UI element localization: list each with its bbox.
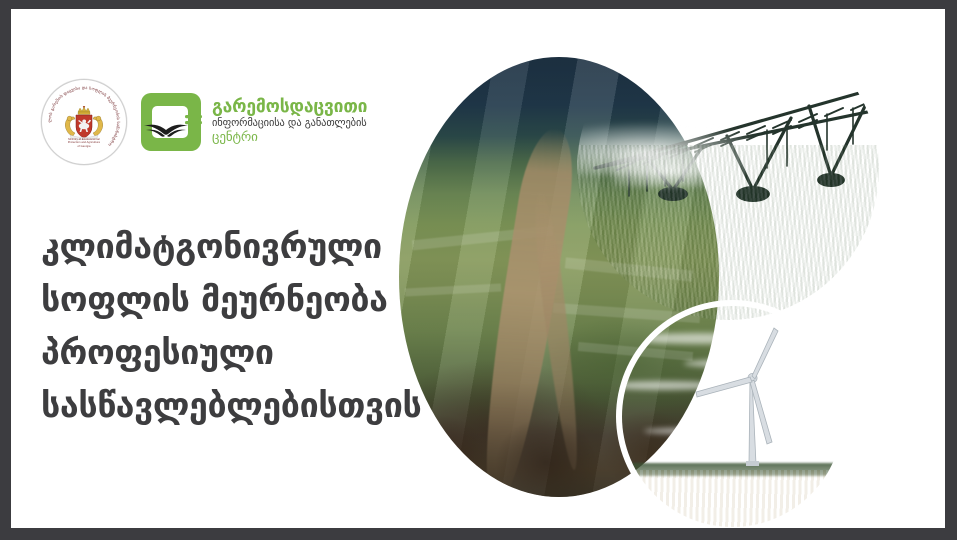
logo-wordmark: გარემოსდაცვითი ინფორმაციისა და განათლები…	[212, 98, 367, 146]
emblem-caption: Ministry of Environmental Protection and…	[42, 138, 126, 148]
logo-line-3: ცენტრი	[212, 130, 367, 145]
poster-frame: საქართველოს გარემოს დაცვისა და სოფლის მე…	[0, 0, 957, 540]
book-in-green-c-logo-icon	[141, 93, 203, 151]
ministry-emblem: საქართველოს გარემოს დაცვისა და სოფლის მე…	[41, 79, 127, 165]
irrigation-photo	[577, 18, 879, 320]
wheat-crop-texture	[577, 145, 879, 320]
photo-collage	[385, 9, 945, 525]
poster-canvas: საქართველოს გარემოს დაცვისა და სოფლის მე…	[11, 9, 945, 528]
field-strip	[405, 283, 501, 296]
harvested-field-stubble	[622, 470, 843, 527]
emblem-caption-line-3: of Georgia	[42, 145, 126, 148]
georgian-coat-of-arms-icon	[60, 106, 108, 140]
eiec-logo: გარემოსდაცვითი ინფორმაციისა და განათლები…	[141, 93, 367, 151]
logo-line-1: გარემოსდაცვითი	[212, 98, 367, 117]
wind-turbine-photo	[622, 306, 843, 527]
logo-lockup: საქართველოს გარემოს დაცვისა და სოფლის მე…	[41, 79, 367, 165]
logo-line-2: ინფორმაციისა და განათლების	[212, 117, 367, 130]
